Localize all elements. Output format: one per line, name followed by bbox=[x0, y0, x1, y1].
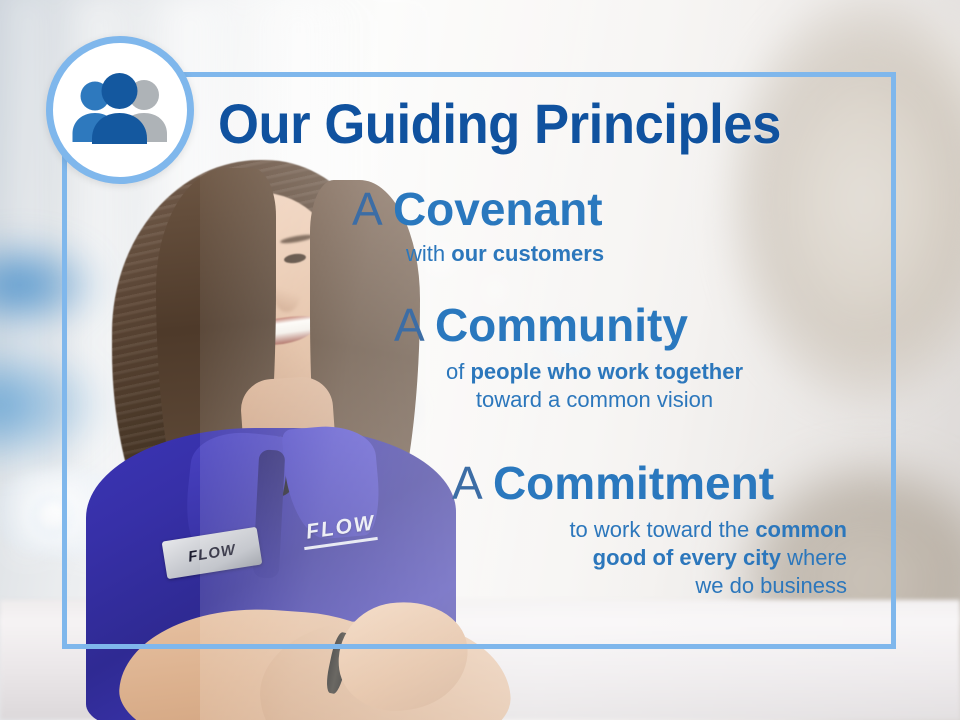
principle-2-sub-lead: of bbox=[446, 359, 470, 384]
nose bbox=[274, 278, 300, 312]
principle-1-keyword: Covenant bbox=[393, 183, 603, 235]
principle-3-sub-tail: where bbox=[781, 545, 847, 570]
principle-3-heading: A Commitment bbox=[452, 460, 847, 508]
principle-1-article: A bbox=[352, 183, 380, 235]
principle-3-subtitle: to work toward the common good of every … bbox=[452, 516, 847, 600]
principle-1-subtitle: with our customers bbox=[352, 240, 604, 268]
principle-2-subtitle: of people who work together toward a com… bbox=[394, 358, 743, 414]
principle-2-keyword: Community bbox=[435, 299, 688, 351]
principle-community: A Community of people who work together … bbox=[394, 302, 743, 414]
name-badge-logo-text: FLOW bbox=[187, 541, 237, 565]
principle-covenant: A Covenant with our customers bbox=[352, 186, 604, 268]
people-group-icon bbox=[66, 72, 174, 148]
people-group-icon-badge bbox=[46, 36, 194, 184]
principle-1-heading: A Covenant bbox=[352, 186, 604, 234]
poster-canvas: FLOW FLOW bbox=[0, 0, 960, 720]
principle-3-sub-bold: common bbox=[755, 517, 847, 542]
principle-1-sub-bold: our customers bbox=[451, 241, 604, 266]
principle-3-sub-bold2: good of every city bbox=[593, 545, 781, 570]
principle-3-keyword: Commitment bbox=[493, 457, 774, 509]
principle-2-sub-bold: people who work together bbox=[470, 359, 743, 384]
page-title: Our Guiding Principles bbox=[218, 96, 781, 152]
principle-1-sub-lead: with bbox=[406, 241, 451, 266]
principle-2-sub-line1: of people who work together bbox=[446, 358, 743, 386]
principle-3-sub-line3: we do business bbox=[452, 572, 847, 600]
principle-3-sub-lead: to work toward the bbox=[569, 517, 755, 542]
principle-commitment: A Commitment to work toward the common g… bbox=[452, 460, 847, 600]
principle-2-sub-line2: toward a common vision bbox=[446, 386, 743, 414]
principle-3-article: A bbox=[452, 457, 480, 509]
principle-3-sub-line2: good of every city where bbox=[452, 544, 847, 572]
principle-2-heading: A Community bbox=[394, 302, 743, 350]
principle-2-article: A bbox=[394, 299, 422, 351]
principle-3-sub-line1: to work toward the common bbox=[452, 516, 847, 544]
